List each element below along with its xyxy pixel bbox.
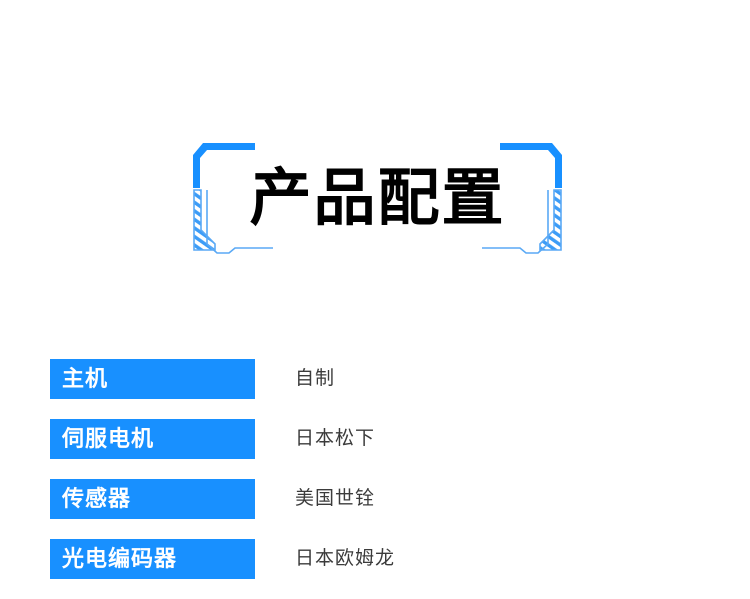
title-banner: 产品配置 — [185, 138, 570, 263]
spec-value-host: 自制 — [295, 359, 335, 399]
spec-label-sensor: 传感器 — [50, 479, 255, 519]
spec-row: 伺服电机 日本松下 — [0, 419, 750, 459]
spec-row: 主机 自制 — [0, 359, 750, 399]
page-title: 产品配置 — [185, 138, 570, 263]
spec-row: 传感器 美国世铨 — [0, 479, 750, 519]
spec-value-photoelectric-encoder: 日本欧姆龙 — [295, 539, 395, 579]
spec-row: 光电编码器 日本欧姆龙 — [0, 539, 750, 579]
spec-label-photoelectric-encoder: 光电编码器 — [50, 539, 255, 579]
spec-label-host: 主机 — [50, 359, 255, 399]
spec-label-servo-motor: 伺服电机 — [50, 419, 255, 459]
spec-value-sensor: 美国世铨 — [295, 479, 375, 519]
product-spec-list: 主机 自制 伺服电机 日本松下 传感器 美国世铨 光电编码器 日本欧姆龙 — [0, 359, 750, 599]
spec-value-servo-motor: 日本松下 — [295, 419, 375, 459]
